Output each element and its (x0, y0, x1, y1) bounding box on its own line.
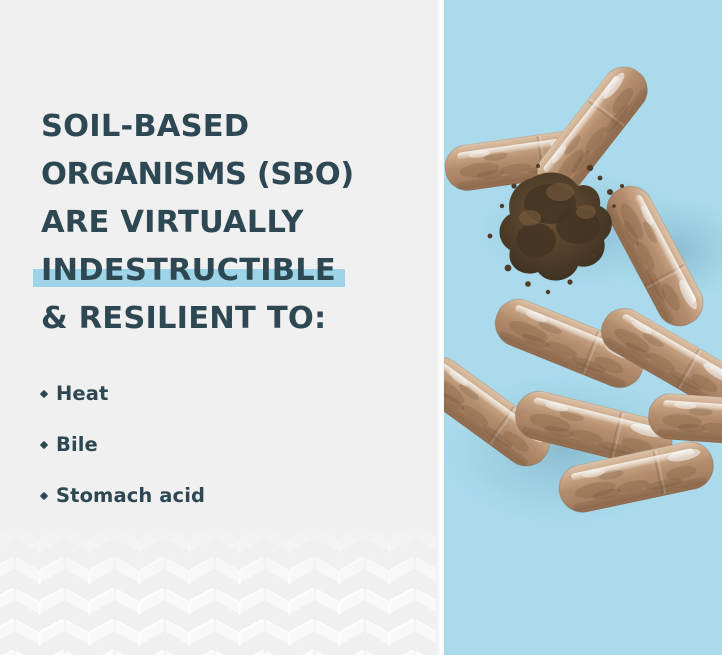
diamond-bullet-icon (41, 493, 56, 499)
headline-line-5: & RESILIENT TO: (41, 295, 441, 343)
resilience-list: Heat Bile Stomach acid (41, 368, 205, 521)
diamond-bullet-icon (41, 442, 56, 448)
supplement-capsules-photo (444, 0, 722, 655)
diamond-bullet-icon (41, 391, 56, 397)
highlight-marker: INDESTRUCTIBLE (41, 247, 336, 295)
list-item: Bile (41, 419, 205, 470)
headline-line-1: SOIL-BASED (41, 103, 441, 151)
headline-line-4-highlighted: INDESTRUCTIBLE (41, 247, 441, 295)
list-item: Stomach acid (41, 470, 205, 521)
text-panel: SOIL-BASED ORGANISMS (SBO) ARE VIRTUALLY… (0, 0, 444, 655)
infographic-poster: SOIL-BASED ORGANISMS (SBO) ARE VIRTUALLY… (0, 0, 722, 655)
list-item-label: Heat (56, 382, 108, 405)
headline: SOIL-BASED ORGANISMS (SBO) ARE VIRTUALLY… (41, 103, 441, 343)
chevron-herringbone-pattern (0, 525, 444, 655)
list-item-label: Stomach acid (56, 484, 205, 507)
list-item-label: Bile (56, 433, 98, 456)
headline-line-3: ARE VIRTUALLY (41, 199, 441, 247)
headline-line-2: ORGANISMS (SBO) (41, 151, 441, 199)
list-item: Heat (41, 368, 205, 419)
